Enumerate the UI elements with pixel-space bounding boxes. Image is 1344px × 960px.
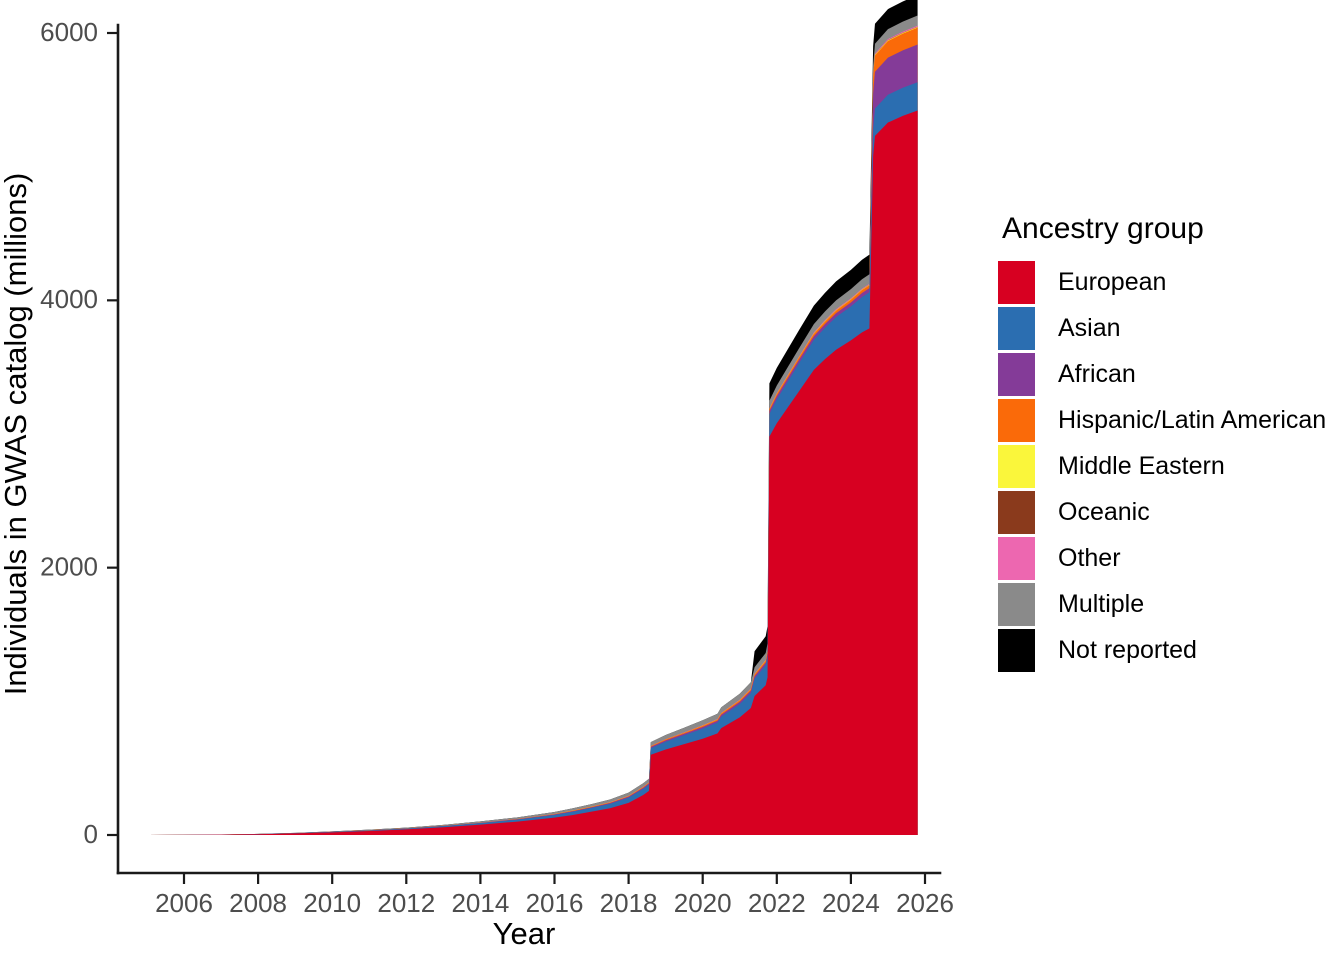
legend-item[interactable]: Other xyxy=(998,535,1338,581)
y-tick-label: 4000 xyxy=(40,284,98,314)
legend-swatch-icon xyxy=(998,261,1035,304)
x-tick-label: 2022 xyxy=(748,888,806,918)
legend-item-label: Hispanic/Latin American xyxy=(1058,408,1326,433)
legend-item-label: Other xyxy=(1058,546,1121,571)
legend-item-label: Asian xyxy=(1058,316,1121,341)
legend-swatch-icon xyxy=(998,399,1035,442)
legend-item[interactable]: Middle Eastern xyxy=(998,443,1338,489)
legend-swatch-icon xyxy=(998,537,1035,580)
x-tick-label: 2024 xyxy=(822,888,880,918)
legend-swatch-icon xyxy=(998,353,1035,396)
legend-swatch-icon xyxy=(998,583,1035,626)
legend-item[interactable]: African xyxy=(998,351,1338,397)
plot-area: 0200040006000200620082010201220142016201… xyxy=(0,0,960,960)
y-tick-label: 0 xyxy=(84,819,98,849)
x-tick-label: 2012 xyxy=(377,888,435,918)
x-tick-label: 2008 xyxy=(229,888,287,918)
legend-item[interactable]: Multiple xyxy=(998,581,1338,627)
legend-swatch-icon xyxy=(998,629,1035,672)
y-axis-title: Individuals in GWAS catalog (millions) xyxy=(0,173,33,696)
legend-item[interactable]: European xyxy=(998,259,1338,305)
x-tick-label: 2016 xyxy=(526,888,584,918)
legend-item[interactable]: Not reported xyxy=(998,627,1338,673)
x-tick-label: 2018 xyxy=(600,888,658,918)
legend: Ancestry group EuropeanAsianAfricanHispa… xyxy=(998,212,1338,673)
x-tick-label: 2014 xyxy=(451,888,509,918)
legend-item-label: Multiple xyxy=(1058,592,1144,617)
legend-item[interactable]: Hispanic/Latin American xyxy=(998,397,1338,443)
legend-title: Ancestry group xyxy=(1002,212,1338,245)
legend-item-label: African xyxy=(1058,362,1136,387)
stacked-area-chart: 0200040006000200620082010201220142016201… xyxy=(0,0,960,960)
y-tick-label: 6000 xyxy=(40,17,98,47)
x-tick-label: 2026 xyxy=(896,888,954,918)
area-european xyxy=(147,111,918,835)
legend-items: EuropeanAsianAfricanHispanic/Latin Ameri… xyxy=(998,259,1338,673)
legend-item-label: European xyxy=(1058,270,1166,295)
legend-item-label: Middle Eastern xyxy=(1058,454,1225,479)
chart-page: 0200040006000200620082010201220142016201… xyxy=(0,0,1344,960)
legend-swatch-icon xyxy=(998,491,1035,534)
legend-item[interactable]: Asian xyxy=(998,305,1338,351)
area-series-group xyxy=(147,0,918,835)
y-tick-label: 2000 xyxy=(40,552,98,582)
legend-item-label: Not reported xyxy=(1058,638,1197,663)
x-tick-label: 2006 xyxy=(155,888,213,918)
legend-swatch-icon xyxy=(998,445,1035,488)
x-tick-label: 2010 xyxy=(303,888,361,918)
legend-swatch-icon xyxy=(998,307,1035,350)
legend-item[interactable]: Oceanic xyxy=(998,489,1338,535)
x-axis-title: Year xyxy=(493,916,556,951)
x-tick-label: 2020 xyxy=(674,888,732,918)
legend-item-label: Oceanic xyxy=(1058,500,1150,525)
